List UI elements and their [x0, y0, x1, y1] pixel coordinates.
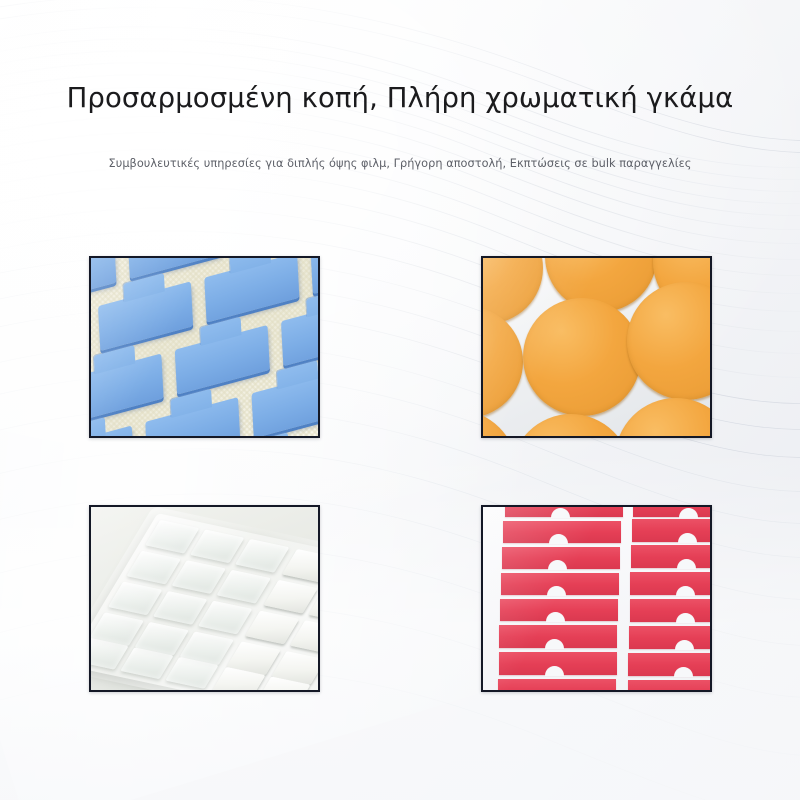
blue-pad-array — [91, 258, 318, 436]
photo-content-red — [483, 507, 710, 690]
product-photo-clear-square-pads[interactable]: Διάφανο φύλλο με λευκά τετράγωνα αυτοκόλ… — [89, 505, 320, 692]
photo-content-blue — [91, 258, 318, 436]
product-image-gallery: Μπλε κομμένα σε σχήμα L αυτοκόλλητα σε υ… — [49, 240, 752, 708]
page-subtitle: Συμβουλευτικές υπηρεσίες για διπλής όψης… — [0, 115, 800, 170]
page-title: Προσαρμοσμένη κοπή, Πλήρη χρωματική γκάμ… — [0, 0, 800, 115]
promo-banner: Προσαρμοσμένη κοπή, Πλήρη χρωματική γκάμ… — [0, 0, 800, 800]
clear-film-sheet — [91, 513, 318, 690]
photo-content-orange — [483, 258, 710, 436]
product-photo-orange-discs[interactable]: Πορτοκαλί στρογγυλά κομμένα αυτοκόλλητα — [481, 256, 712, 438]
product-photo-red-strips[interactable]: Κόκκινες ορθογώνιες ταινίες με ημικυκλικ… — [481, 505, 712, 692]
banner-heading-block: Προσαρμοσμένη κοπή, Πλήρη χρωματική γκάμ… — [0, 0, 800, 170]
photo-content-clear — [91, 507, 318, 690]
product-photo-blue-l-pads[interactable]: Μπλε κομμένα σε σχήμα L αυτοκόλλητα σε υ… — [89, 256, 320, 438]
